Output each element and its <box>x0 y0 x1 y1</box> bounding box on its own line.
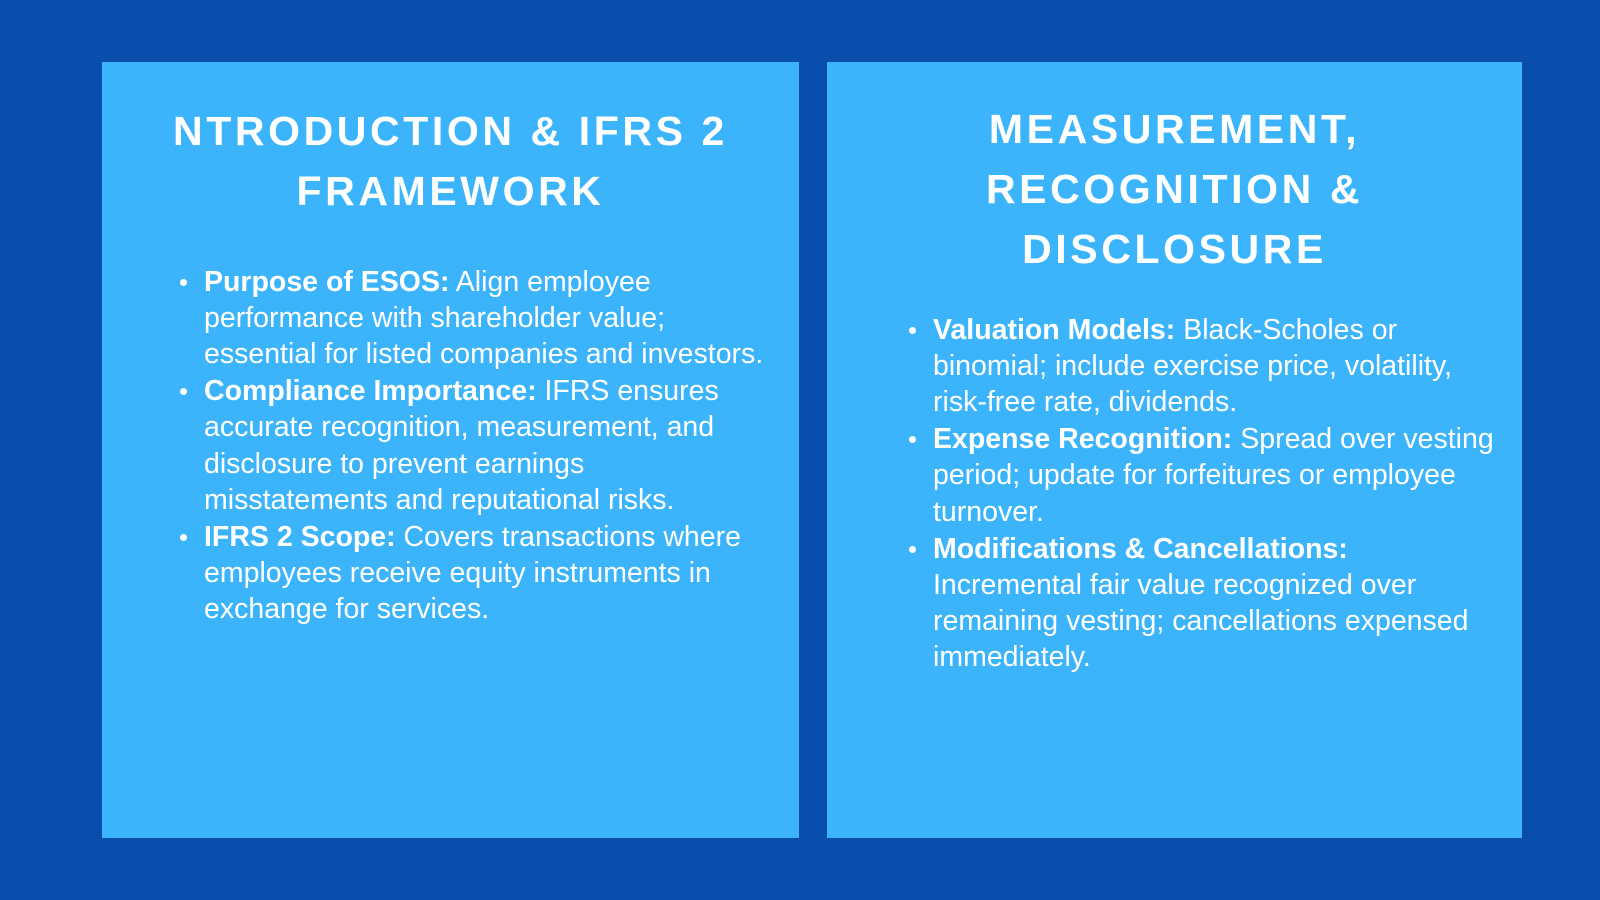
list-item: Compliance Importance: IFRS ensures accu… <box>180 373 767 518</box>
panel-row: NTRODUCTION & IFRS 2 FRAMEWORK Purpose o… <box>102 62 1522 838</box>
panel-introduction-ifrs2-framework: NTRODUCTION & IFRS 2 FRAMEWORK Purpose o… <box>102 62 799 838</box>
list-item: Valuation Models: Black-Scholes or binom… <box>909 312 1496 421</box>
bullet-lead: IFRS 2 Scope: <box>204 521 396 553</box>
bullet-lead: Purpose of ESOS: <box>204 266 449 298</box>
bullet-lead: Expense Recognition: <box>933 423 1232 455</box>
bullet-lead: Modifications & Cancellations: <box>933 533 1348 565</box>
list-item: IFRS 2 Scope: Covers transactions where … <box>180 519 767 628</box>
bullet-lead: Valuation Models: <box>933 314 1175 346</box>
panel-title-left: NTRODUCTION & IFRS 2 FRAMEWORK <box>102 62 799 222</box>
panel-measurement-recognition-disclosure: MEASUREMENT, RECOGNITION & DISCLOSURE Va… <box>827 62 1522 838</box>
panel-title-right: MEASUREMENT, RECOGNITION & DISCLOSURE <box>827 62 1522 280</box>
bullet-list-left: Purpose of ESOS: Align employee performa… <box>102 264 799 628</box>
list-item: Expense Recognition: Spread over vesting… <box>909 421 1496 530</box>
bullet-lead: Compliance Importance: <box>204 375 537 407</box>
list-item: Modifications & Cancellations: Increment… <box>909 531 1496 676</box>
list-item: Purpose of ESOS: Align employee performa… <box>180 264 767 373</box>
slide-canvas: NTRODUCTION & IFRS 2 FRAMEWORK Purpose o… <box>0 0 1600 900</box>
bullet-list-right: Valuation Models: Black-Scholes or binom… <box>827 312 1522 676</box>
bullet-rest: Incremental fair value recognized over r… <box>933 569 1469 673</box>
